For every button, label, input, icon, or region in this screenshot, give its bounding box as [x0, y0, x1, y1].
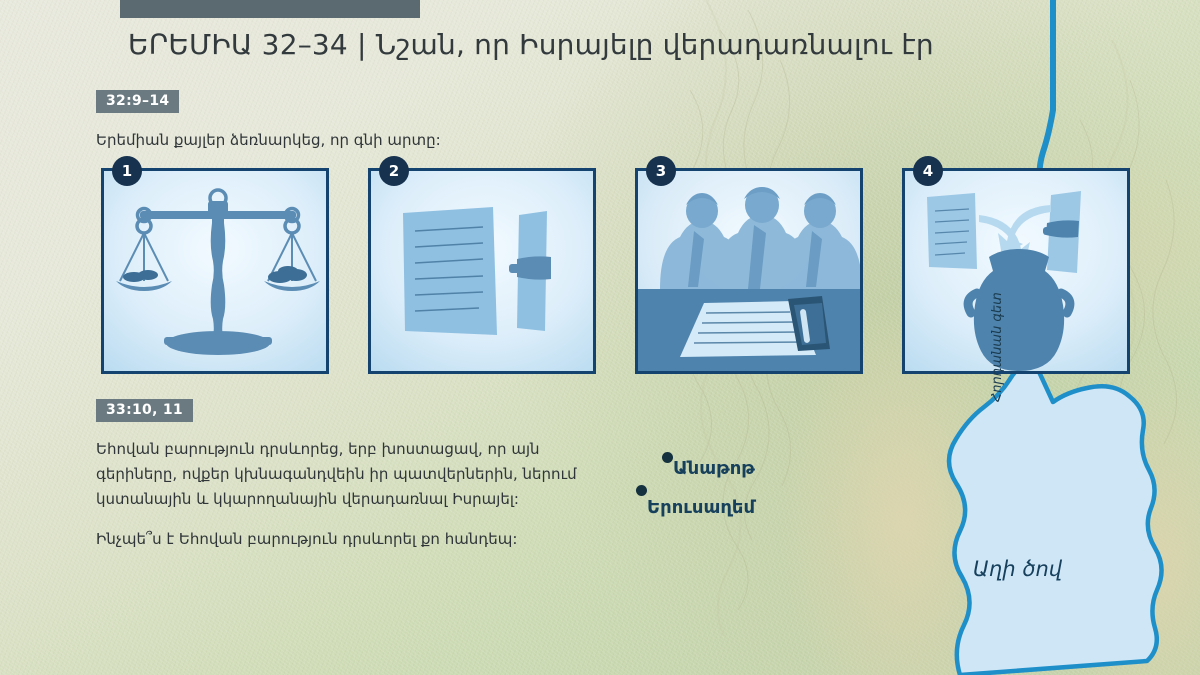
slide-canvas: ԵՐԵՄԻԱ 32–34 | Նշան, որ Իսրայելը վերադառ…	[0, 0, 1200, 675]
panel-number-1: 1	[112, 156, 142, 186]
section-2-text: Եհովան բարություն դրսևորեց, երբ խոստացավ…	[96, 437, 596, 512]
section-2-question: Ինչպե՞ս է Եհովան բարություն դրսևորել քո …	[96, 527, 636, 552]
verse-badge-2: 33:10, 11	[96, 399, 193, 422]
deed-and-sealed-scroll-icon	[371, 171, 593, 371]
map-dot-jerusalem	[636, 485, 647, 496]
section-1-text: Երեմիան քայլեր ձեռնարկեց, որ գնի արտը:	[96, 128, 716, 153]
panel-number-2: 2	[379, 156, 409, 186]
illustration-panel-3[interactable]: 3	[635, 168, 863, 374]
map-dot-anathoth	[662, 452, 673, 463]
map-label-anathoth: Անաթոթ	[673, 458, 755, 479]
page-title: ԵՐԵՄԻԱ 32–34 | Նշան, որ Իսրայելը վերադառ…	[128, 25, 934, 65]
panel-4-artwork	[905, 171, 1127, 371]
illustration-panel-1[interactable]: 1	[101, 168, 329, 374]
illustration-panel-4[interactable]: 4	[902, 168, 1130, 374]
map-label-jerusalem: Երուսաղեմ	[647, 497, 755, 518]
panel-3-artwork	[638, 171, 860, 371]
documents-into-jar-icon	[905, 171, 1127, 371]
map-label-jordan-river: Հորդանան գետ	[990, 292, 1005, 402]
map-label-salt-sea: Աղի ծով	[973, 557, 1062, 581]
panel-2-artwork	[371, 171, 593, 371]
verse-badge-1: 32:9–14	[96, 90, 179, 113]
panel-1-artwork	[104, 171, 326, 371]
balance-scale-icon	[104, 171, 326, 371]
header-accent-bar	[120, 0, 420, 18]
three-witnesses-icon	[638, 171, 860, 371]
panel-number-3: 3	[646, 156, 676, 186]
panel-number-4: 4	[913, 156, 943, 186]
illustration-panel-2[interactable]: 2	[368, 168, 596, 374]
